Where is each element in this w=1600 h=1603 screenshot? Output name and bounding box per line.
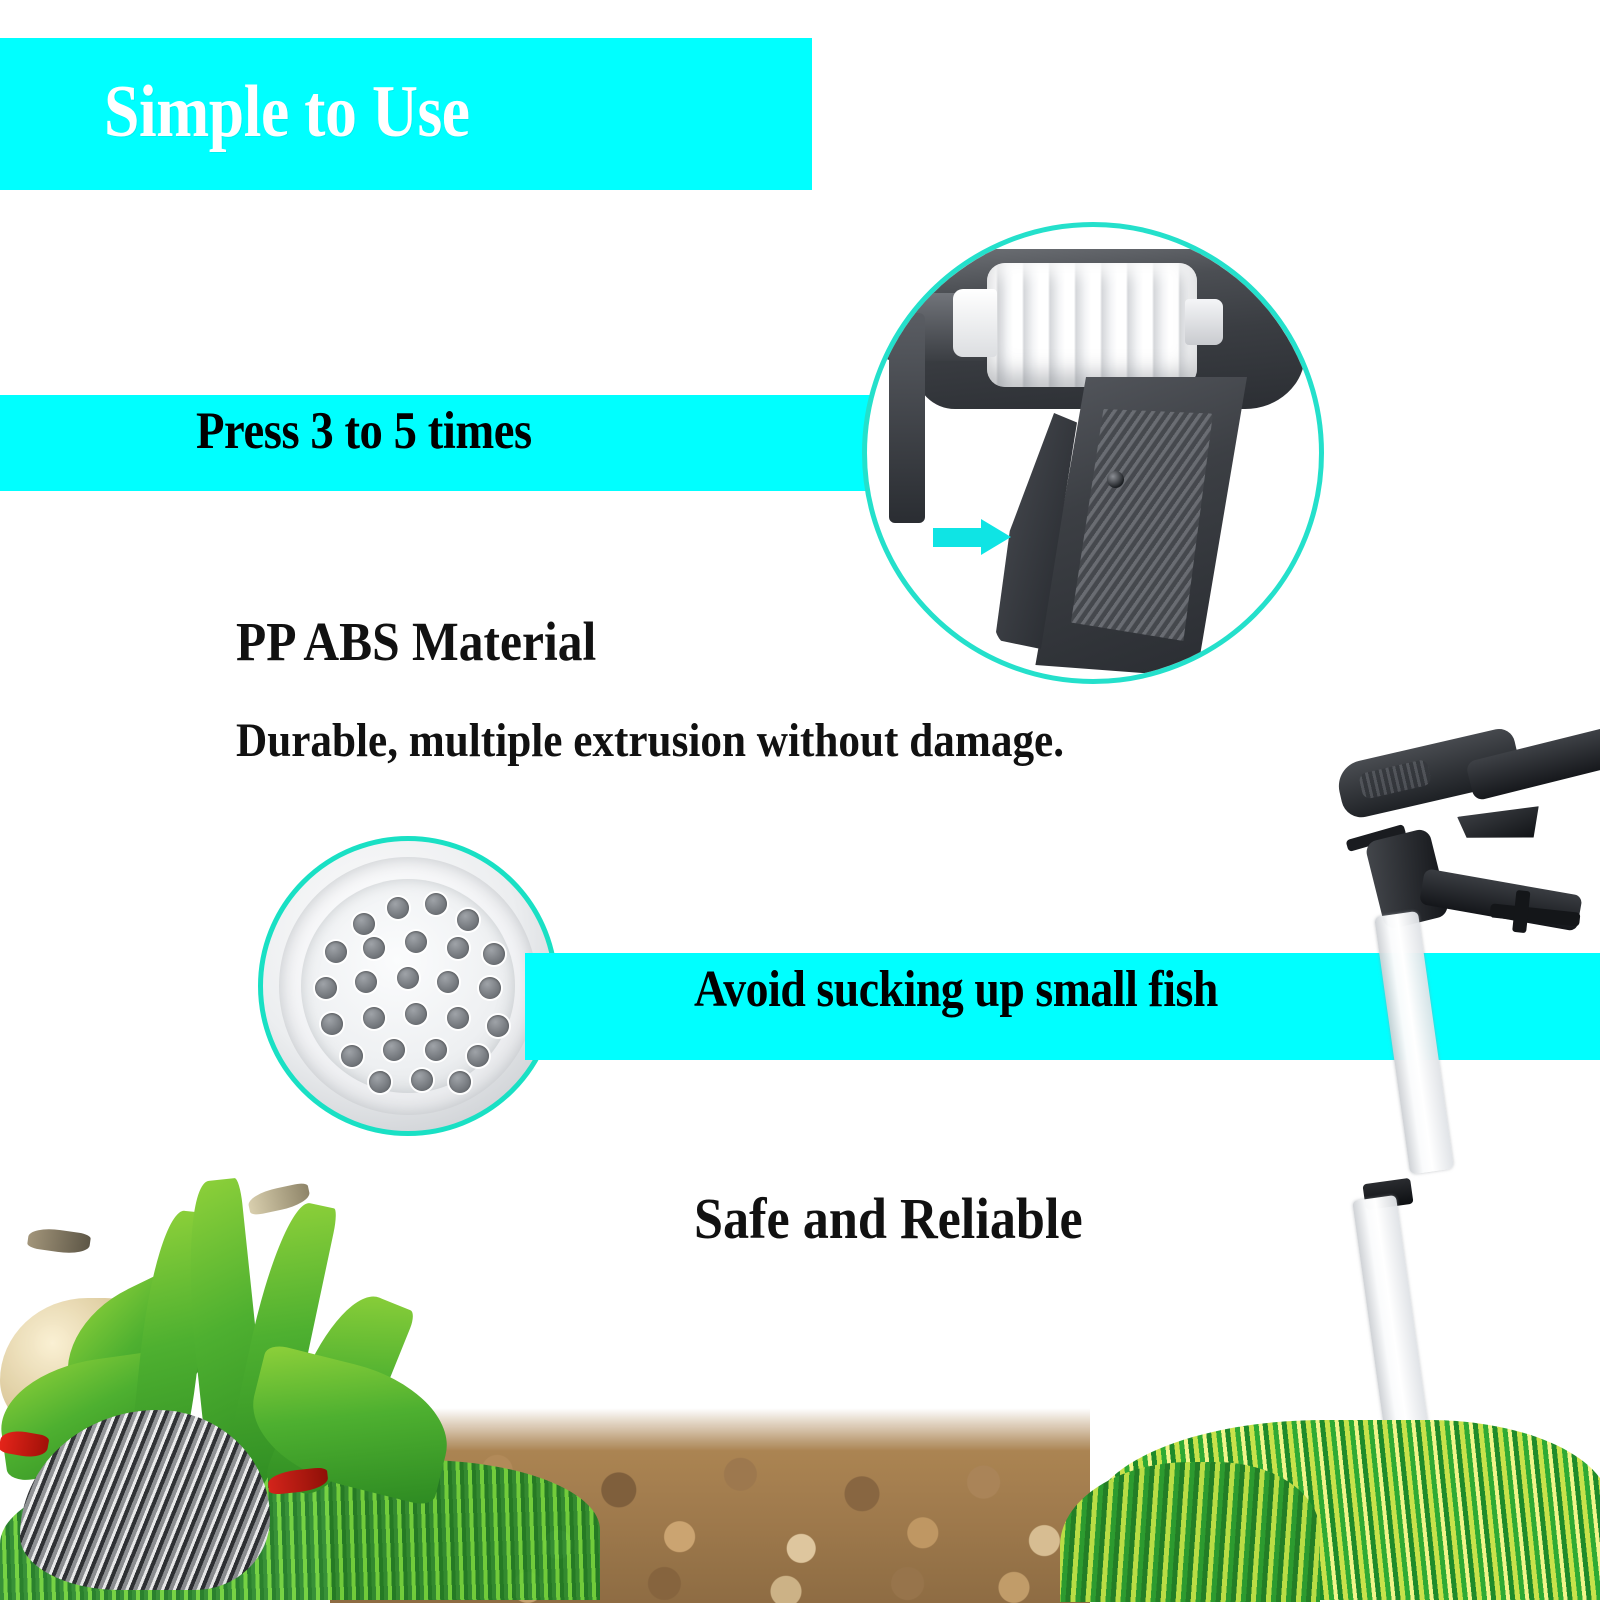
- pump-illustration: [867, 227, 1319, 679]
- strainer-hole: [369, 1071, 391, 1093]
- strainer-hole: [321, 1013, 343, 1035]
- strainer-hole: [353, 913, 375, 935]
- strainer-hole: [437, 971, 459, 993]
- material-title: PP ABS Material: [236, 610, 596, 673]
- aquarium-scene-image: [0, 1170, 1600, 1600]
- strainer-hole: [467, 1045, 489, 1067]
- strainer-hole: [411, 1069, 433, 1091]
- strainer-hole: [363, 1007, 385, 1029]
- strainer-hole: [405, 1003, 427, 1025]
- strainer-face: [301, 879, 515, 1093]
- strainer-hole: [457, 909, 479, 931]
- pump-closeup-image: [862, 222, 1324, 684]
- strainer-hole: [397, 967, 419, 989]
- page-title: Simple to Use: [104, 70, 470, 155]
- siphon-tube-upper: [1374, 911, 1454, 1175]
- fish: [27, 1226, 91, 1256]
- arrow-shaft: [933, 528, 985, 547]
- avoid-label: Avoid sucking up small fish: [694, 960, 1218, 1019]
- material-description: Durable, multiple extrusion without dama…: [236, 713, 1064, 768]
- strainer-hole: [341, 1045, 363, 1067]
- strainer-hole: [483, 943, 505, 965]
- grip-screw: [1107, 471, 1124, 488]
- strainer-hole: [447, 937, 469, 959]
- siphon-trigger: [1457, 800, 1545, 852]
- bellows-shape: [987, 263, 1197, 387]
- strainer-hole: [479, 977, 501, 999]
- strainer-hole: [405, 931, 427, 953]
- strainer-hole: [449, 1071, 471, 1093]
- trigger-guard: [889, 313, 925, 523]
- strainer-hole: [383, 1039, 405, 1061]
- strainer-hole: [425, 1039, 447, 1061]
- strainer-hole: [363, 937, 385, 959]
- press-arrow-icon: [933, 519, 1013, 555]
- strainer-hole: [325, 941, 347, 963]
- press-label: Press 3 to 5 times: [196, 401, 532, 461]
- strainer-hole: [315, 977, 337, 999]
- arrow-head: [981, 519, 1011, 555]
- right-plant-bush-2: [1060, 1462, 1320, 1602]
- strainer-hole: [425, 893, 447, 915]
- strainer-hole: [487, 1015, 509, 1037]
- infographic-canvas: Simple to Use Press 3 to 5 times PP ABS …: [0, 0, 1600, 1600]
- strainer-closeup-image: [258, 836, 558, 1136]
- strainer-hole: [447, 1007, 469, 1029]
- strainer-hole: [355, 971, 377, 993]
- strainer-hole: [387, 897, 409, 919]
